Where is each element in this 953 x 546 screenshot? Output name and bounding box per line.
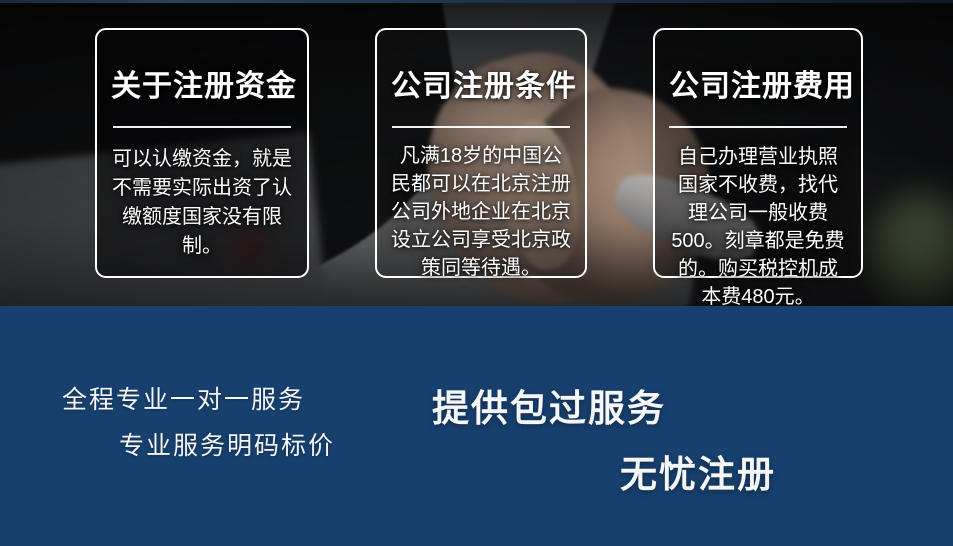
info-card-registered-capital[interactable]: 关于注册资金 可以认缴资金，就是不需要实际出资了认缴额度国家没有限制。: [95, 28, 309, 278]
info-card-body: 凡满18岁的中国公民都可以在北京注册公司外地企业在北京设立公司享受北京政策同等待…: [391, 128, 571, 282]
card-divider-line: [392, 126, 570, 128]
info-card-body: 可以认缴资金，就是不需要实际出资了认缴额度国家没有限制。: [111, 128, 293, 261]
promo-banner: 关于注册资金 可以认缴资金，就是不需要实际出资了认缴额度国家没有限制。 公司注册…: [0, 0, 953, 546]
photo-top-edge-strip: [0, 0, 953, 3]
info-card-body: 自己办理营业执照国家不收费，找代理公司一般收费500。刻章都是免费的。购买税控机…: [669, 128, 847, 306]
slogan-right-line-2: 无忧注册: [620, 444, 776, 498]
slogan-band: 全程专业一对一服务 专业服务明码标价 提供包过服务 无忧注册: [0, 306, 953, 546]
slogan-left-line-2: 专业服务明码标价: [119, 426, 335, 462]
hero-section: 关于注册资金 可以认缴资金，就是不需要实际出资了认缴额度国家没有限制。 公司注册…: [0, 0, 953, 306]
card-divider-line: [113, 126, 291, 128]
info-card-registration-requirements[interactable]: 公司注册条件 凡满18岁的中国公民都可以在北京注册公司外地企业在北京设立公司享受…: [375, 28, 587, 278]
slogan-band-inner: 全程专业一对一服务 专业服务明码标价 提供包过服务 无忧注册: [0, 306, 953, 546]
info-card-registration-fees[interactable]: 公司注册费用 自己办理营业执照国家不收费，找代理公司一般收费500。刻章都是免费…: [653, 28, 863, 278]
card-divider-line: [669, 126, 847, 128]
info-card-title: 公司注册条件: [391, 30, 571, 102]
info-card-title: 关于注册资金: [111, 30, 293, 102]
slogan-right-line-1: 提供包过服务: [432, 378, 666, 432]
info-card-title: 公司注册费用: [669, 30, 847, 102]
slogan-left-line-1: 全程专业一对一服务: [62, 380, 305, 416]
